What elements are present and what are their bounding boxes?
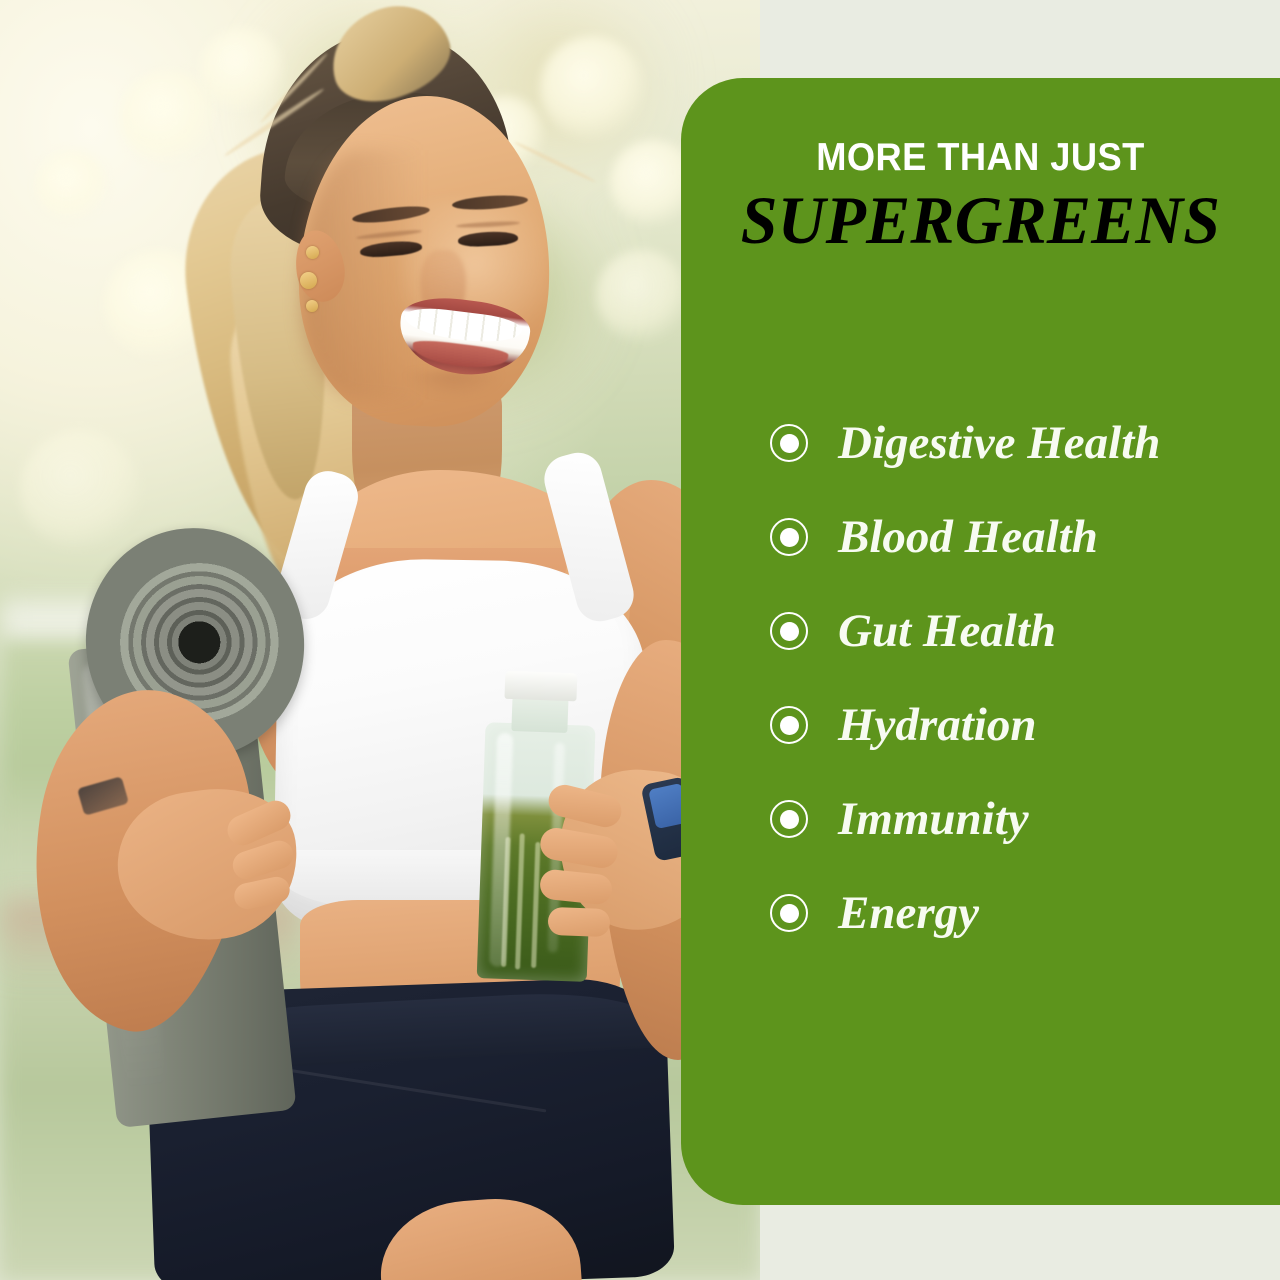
list-item: Digestive Health: [770, 396, 1280, 490]
benefit-label: Hydration: [838, 702, 1036, 749]
benefit-label: Gut Health: [838, 608, 1056, 655]
bottle-cap: [504, 671, 577, 701]
radio-filled-icon: [770, 800, 808, 838]
radio-filled-icon: [770, 424, 808, 462]
benefits-panel: MORE THAN JUST SUPERGREENS Digestive Hea…: [681, 78, 1280, 1205]
chin-shadow: [404, 372, 504, 398]
benefit-label: Blood Health: [838, 514, 1098, 561]
radio-filled-icon: [770, 518, 808, 556]
bottle-neck: [511, 697, 568, 733]
list-item: Hydration: [770, 678, 1280, 772]
benefits-list: Digestive Health Blood Health Gut Health…: [770, 396, 1280, 960]
benefit-label: Energy: [838, 890, 979, 937]
earring: [300, 272, 317, 289]
finger: [548, 907, 611, 937]
benefit-label: Digestive Health: [838, 420, 1160, 467]
list-item: Energy: [770, 866, 1280, 960]
heading-title: SUPERGREENS: [690, 186, 1271, 254]
panel-heading: MORE THAN JUST SUPERGREENS: [681, 138, 1280, 254]
radio-filled-icon: [770, 894, 808, 932]
heading-kicker: MORE THAN JUST: [702, 138, 1259, 177]
radio-filled-icon: [770, 706, 808, 744]
list-item: Immunity: [770, 772, 1280, 866]
list-item: Blood Health: [770, 490, 1280, 584]
list-item: Gut Health: [770, 584, 1280, 678]
woman-figure: [0, 0, 760, 1280]
radio-filled-icon: [770, 612, 808, 650]
earring: [306, 246, 319, 259]
benefit-label: Immunity: [838, 796, 1029, 843]
earring: [306, 300, 318, 312]
promo-graphic: MORE THAN JUST SUPERGREENS Digestive Hea…: [0, 0, 1280, 1280]
hero-photo: [0, 0, 760, 1280]
